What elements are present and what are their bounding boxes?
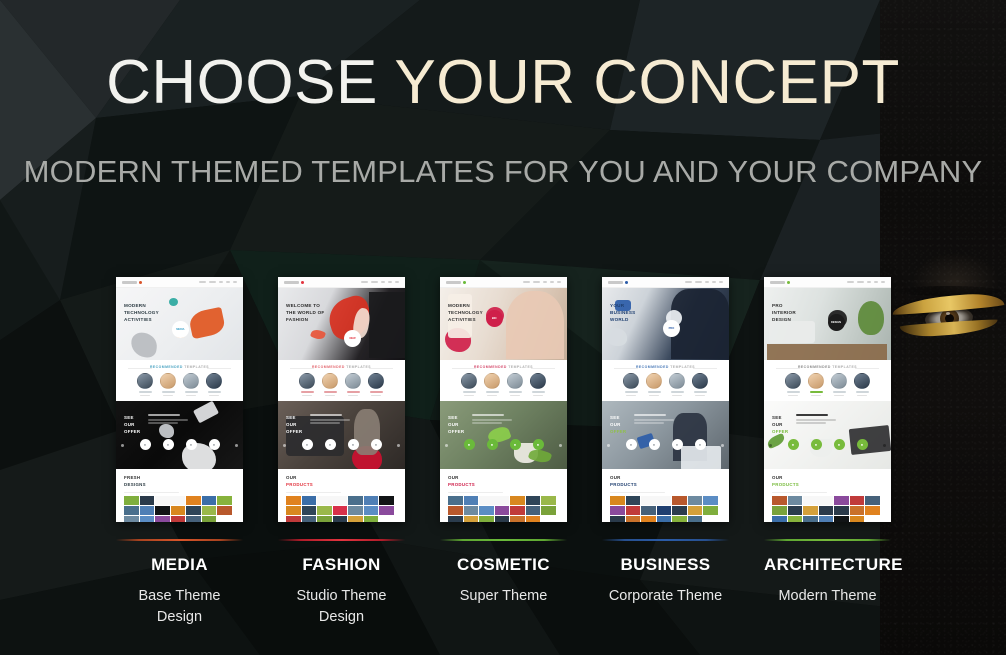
avatar-sublabel <box>302 395 312 397</box>
theme-subtitle-line: Base Theme <box>116 586 243 607</box>
product-tile[interactable] <box>202 506 217 515</box>
product-tile[interactable] <box>302 516 317 522</box>
hero-heading-line: ACTIVITIES <box>448 316 483 323</box>
product-tile[interactable] <box>526 496 541 505</box>
theme-card-media[interactable]: MODERNTECHNOLOGYACTIVITIESMEDIARECOMMEND… <box>116 277 243 643</box>
theme-card-business[interactable]: YOURBUSINESSWORLDPRORECOMMENDED TEMPLATE… <box>602 277 729 643</box>
preview-avatar-item[interactable] <box>137 373 153 396</box>
product-tile[interactable] <box>348 506 363 515</box>
preview-offer-icon-row: ●●●● <box>602 439 729 450</box>
theme-preview-image[interactable]: MODERNTECHNOLOGYACTIVITIESMEDIARECOMMEND… <box>116 277 243 522</box>
product-tile[interactable] <box>510 506 525 515</box>
preview-products-heading: OURPRODUCTS <box>772 475 883 489</box>
preview-offer-section: SEEOUROFFER●●●● <box>602 401 729 469</box>
avatar <box>368 373 384 389</box>
product-tile[interactable] <box>865 506 880 515</box>
offer-circle-icon[interactable]: ● <box>672 439 683 450</box>
rec-title-light: TEMPLATES <box>183 365 209 369</box>
avatar-sublabel <box>487 395 497 397</box>
products-divider <box>124 492 179 493</box>
offer-circle-icon[interactable]: ● <box>209 439 220 450</box>
products-heading-line: DESIGNS <box>124 482 235 489</box>
hero-heading-line: TECHNOLOGY <box>124 309 159 316</box>
product-tile[interactable] <box>348 496 363 505</box>
product-tile[interactable] <box>772 506 787 515</box>
avatar-label <box>532 391 545 393</box>
product-tile[interactable] <box>834 506 849 515</box>
preview-offer-section: SEEOUROFFER●●●● <box>440 401 567 469</box>
offer-circle-icon[interactable]: ● <box>163 439 174 450</box>
hero-heading-line: TECHNOLOGY <box>448 309 483 316</box>
page-subtitle: MODERN THEMED TEMPLATES FOR YOU AND YOUR… <box>0 156 1006 187</box>
avatar <box>785 373 801 389</box>
product-tile[interactable] <box>803 516 818 522</box>
rec-divider-right <box>693 368 717 369</box>
preview-logo <box>122 281 137 284</box>
avatar-label <box>162 391 175 393</box>
theme-subtitle-label: Super Theme <box>440 586 567 607</box>
product-tile[interactable] <box>688 506 703 515</box>
hero-heading-line: YOUR <box>610 302 636 309</box>
product-tile[interactable] <box>364 516 379 522</box>
preview-avatar-item[interactable] <box>206 373 222 396</box>
avatar <box>623 373 639 389</box>
offer-heading-line: OUR <box>124 421 140 428</box>
product-tile[interactable] <box>217 506 232 515</box>
rec-divider-left <box>614 368 638 369</box>
preview-logo-dot <box>139 281 142 284</box>
product-tile[interactable] <box>788 496 803 505</box>
rec-divider-right <box>207 368 231 369</box>
rec-title-strong: RECOMMENDED <box>312 365 345 369</box>
product-tile[interactable] <box>865 496 880 505</box>
theme-subtitle-label: Studio ThemeDesign <box>278 586 405 628</box>
product-tile[interactable] <box>140 506 155 515</box>
product-tile[interactable] <box>124 506 139 515</box>
product-tile[interactable] <box>495 516 510 522</box>
offer-circle-icon[interactable]: ● <box>811 439 822 450</box>
preview-avatar-item[interactable] <box>160 373 176 396</box>
avatar <box>322 373 338 389</box>
product-tile[interactable] <box>657 516 672 522</box>
product-tile[interactable] <box>364 506 379 515</box>
offer-circle-icon[interactable]: ● <box>371 439 382 450</box>
product-tile[interactable] <box>155 516 170 522</box>
hero-art-shape <box>769 321 815 343</box>
products-heading-line: PRODUCTS <box>286 482 397 489</box>
products-heading-line: OUR <box>286 475 397 482</box>
preview-avatar-item[interactable] <box>692 373 708 396</box>
preview-avatar-item[interactable] <box>831 373 847 396</box>
product-tile[interactable] <box>819 506 834 515</box>
product-tile[interactable] <box>541 496 556 505</box>
product-tile[interactable] <box>626 506 641 515</box>
offer-heading-line: OUR <box>448 421 464 428</box>
preview-avatar-item[interactable] <box>808 373 824 396</box>
product-tile[interactable] <box>302 496 317 505</box>
preview-avatar-item[interactable] <box>345 373 361 396</box>
theme-card-architecture[interactable]: PROINTERIORDESIGNDESIGNRECOMMENDED TEMPL… <box>764 277 891 643</box>
offer-circle-icon[interactable]: ● <box>325 439 336 450</box>
preview-recommended-section: RECOMMENDED TEMPLATES <box>602 360 729 401</box>
preview-offer-icon-row: ●●●● <box>440 439 567 450</box>
avatar-label <box>856 391 869 393</box>
offer-heading-line: OFFER <box>772 428 788 435</box>
preview-avatar-item[interactable] <box>669 373 685 396</box>
preview-offer-heading: SEEOUROFFER <box>124 414 140 435</box>
title-part-2: YOUR CONCEPT <box>394 48 899 117</box>
product-tile[interactable] <box>834 496 849 505</box>
offer-circle-icon[interactable]: ● <box>788 439 799 450</box>
product-tile[interactable] <box>202 516 217 522</box>
product-tile[interactable] <box>140 496 155 505</box>
rec-title-strong: RECOMMENDED <box>636 365 669 369</box>
preview-avatar-row <box>116 373 243 396</box>
product-tile[interactable] <box>850 496 865 505</box>
theme-preview-image[interactable]: MODERNTECHNOLOGYACTIVITIESBIORECOMMENDED… <box>440 277 567 522</box>
product-tile[interactable] <box>610 506 625 515</box>
product-tile[interactable] <box>448 506 463 515</box>
preview-offer-description <box>472 414 514 424</box>
hero-art-shape <box>169 298 178 306</box>
theme-card-cosmetic[interactable]: MODERNTECHNOLOGYACTIVITIESBIORECOMMENDED… <box>440 277 567 643</box>
theme-name-label: MEDIA <box>116 555 243 575</box>
theme-accent-rule <box>116 539 243 541</box>
product-tile[interactable] <box>186 516 201 522</box>
theme-subtitle-label: Modern Theme <box>764 586 891 607</box>
preview-products-section: OURPRODUCTS <box>764 469 891 522</box>
avatar-label <box>347 391 360 393</box>
product-tile[interactable] <box>834 516 849 522</box>
preview-logo-dot <box>301 281 304 284</box>
product-tile[interactable] <box>672 506 687 515</box>
product-tile[interactable] <box>186 496 201 505</box>
rec-title-light: TEMPLATES <box>669 365 695 369</box>
preview-offer-description <box>796 414 838 424</box>
preview-nav-menu <box>199 281 237 283</box>
preview-navbar <box>440 277 567 288</box>
product-tile[interactable] <box>541 506 556 515</box>
hero-art-shape <box>187 306 226 339</box>
preview-avatar-item[interactable] <box>299 373 315 396</box>
avatar-label <box>139 391 152 393</box>
hero-heading-line: BUSINESS <box>610 309 636 316</box>
product-tile[interactable] <box>626 496 641 505</box>
avatar-sublabel <box>371 395 381 397</box>
product-tile[interactable] <box>479 496 509 505</box>
product-tile[interactable] <box>464 496 479 505</box>
product-tile[interactable] <box>510 496 525 505</box>
preview-products-grid <box>286 496 394 522</box>
offer-circle-icon[interactable]: ● <box>348 439 359 450</box>
avatar <box>461 373 477 389</box>
theme-subtitle-line: Modern Theme <box>764 586 891 607</box>
product-tile[interactable] <box>850 506 865 515</box>
preview-products-heading: OURPRODUCTS <box>286 475 397 489</box>
products-divider <box>286 492 341 493</box>
preview-avatar-item[interactable] <box>183 373 199 396</box>
product-tile[interactable] <box>688 496 703 505</box>
avatar <box>183 373 199 389</box>
products-heading-line: OUR <box>448 475 559 482</box>
preview-avatar-item[interactable] <box>623 373 639 396</box>
preview-offer-heading: SEEOUROFFER <box>448 414 464 435</box>
offer-circle-icon[interactable]: ● <box>695 439 706 450</box>
avatar-sublabel <box>695 395 705 397</box>
product-tile[interactable] <box>772 516 787 522</box>
product-tile[interactable] <box>379 506 394 515</box>
offer-desc-title <box>634 414 666 416</box>
preview-avatar-row <box>764 373 891 396</box>
avatar-label <box>833 391 846 393</box>
preview-offer-description <box>310 414 352 424</box>
offer-heading-line: OUR <box>610 421 626 428</box>
product-tile[interactable] <box>379 496 394 505</box>
avatar <box>484 373 500 389</box>
products-heading-line: OUR <box>772 475 883 482</box>
products-divider <box>772 492 827 493</box>
theme-preview-image[interactable]: YOURBUSINESSWORLDPRORECOMMENDED TEMPLATE… <box>602 277 729 522</box>
offer-circle-icon[interactable]: ● <box>857 439 868 450</box>
products-heading-line: FRESH <box>124 475 235 482</box>
product-tile[interactable] <box>526 516 541 522</box>
product-tile[interactable] <box>510 516 525 522</box>
product-tile[interactable] <box>286 516 301 522</box>
rec-divider-left <box>128 368 152 369</box>
avatar-sublabel <box>788 395 798 397</box>
preview-offer-section: SEEOUROFFER●●●● <box>116 401 243 469</box>
hero-heading-line: MODERN <box>448 302 483 309</box>
theme-preview-image[interactable]: PROINTERIORDESIGNDESIGNRECOMMENDED TEMPL… <box>764 277 891 522</box>
offer-desc-title <box>310 414 342 416</box>
products-divider <box>448 492 503 493</box>
theme-card-fashion[interactable]: WELCOME TOTHE WORLD OFFASHIONNEWRECOMMEN… <box>278 277 405 643</box>
gold-eye-icon <box>892 288 1004 346</box>
offer-desc-line <box>148 419 188 421</box>
preview-hero: WELCOME TOTHE WORLD OFFASHIONNEW <box>278 288 405 360</box>
hero-heading-line: THE WORLD OF <box>286 309 324 316</box>
product-tile[interactable] <box>464 506 479 515</box>
product-tile[interactable] <box>140 516 155 522</box>
product-tile[interactable] <box>155 496 185 505</box>
preview-hero-badge: MEDIA <box>172 321 189 338</box>
hero-heading-line: INTERIOR <box>772 309 796 316</box>
product-tile[interactable] <box>171 506 186 515</box>
products-heading-line: PRODUCTS <box>448 482 559 489</box>
avatar-label <box>301 391 314 393</box>
avatar <box>831 373 847 389</box>
preview-products-section: FRESHDESIGNS <box>116 469 243 522</box>
preview-products-grid <box>448 496 556 522</box>
product-tile[interactable] <box>286 496 301 505</box>
preview-offer-heading: SEEOUROFFER <box>772 414 788 435</box>
preview-avatar-item[interactable] <box>484 373 500 396</box>
offer-circle-icon[interactable]: ● <box>510 439 521 450</box>
product-tile[interactable] <box>819 516 834 522</box>
offer-circle-icon[interactable]: ● <box>487 439 498 450</box>
avatar-label <box>810 391 823 393</box>
preview-avatar-item[interactable] <box>646 373 662 396</box>
product-tile[interactable] <box>317 516 332 522</box>
preview-hero-artwork <box>278 288 405 360</box>
product-tile[interactable] <box>364 496 379 505</box>
offer-desc-line <box>796 422 826 424</box>
product-tile[interactable] <box>803 496 833 505</box>
hero-art-shape <box>506 291 564 359</box>
product-tile[interactable] <box>317 496 347 505</box>
preview-avatar-item[interactable] <box>461 373 477 396</box>
avatar-label <box>486 391 499 393</box>
offer-circle-icon[interactable]: ● <box>649 439 660 450</box>
product-tile[interactable] <box>626 516 641 522</box>
product-tile[interactable] <box>171 516 186 522</box>
product-tile[interactable] <box>479 516 494 522</box>
avatar <box>507 373 523 389</box>
product-tile[interactable] <box>788 516 803 522</box>
avatar-label <box>671 391 684 393</box>
product-tile[interactable] <box>286 506 301 515</box>
offer-desc-line <box>148 422 178 424</box>
hero-heading-line: PRO <box>772 302 796 309</box>
avatar-label <box>185 391 198 393</box>
preview-avatar-item[interactable] <box>785 373 801 396</box>
product-tile[interactable] <box>688 516 703 522</box>
product-tile[interactable] <box>124 496 139 505</box>
preview-navbar <box>116 277 243 288</box>
theme-name-label: FASHION <box>278 555 405 575</box>
theme-name-label: COSMETIC <box>440 555 567 575</box>
offer-heading-line: OFFER <box>286 428 302 435</box>
product-tile[interactable] <box>464 516 479 522</box>
offer-circle-icon[interactable]: ● <box>302 439 313 450</box>
offer-circle-icon[interactable]: ● <box>186 439 197 450</box>
preview-hero-badge: PRO <box>663 320 680 337</box>
offer-circle-icon[interactable]: ● <box>533 439 544 450</box>
hero-heading-line: WORLD <box>610 316 636 323</box>
preview-hero-heading: MODERNTECHNOLOGYACTIVITIES <box>124 302 159 323</box>
offer-circle-icon[interactable]: ● <box>140 439 151 450</box>
product-tile[interactable] <box>657 506 672 515</box>
theme-subtitle-line: Super Theme <box>440 586 567 607</box>
rec-divider-right <box>369 368 393 369</box>
avatar-sublabel <box>811 395 821 397</box>
offer-desc-line <box>634 419 674 421</box>
product-tile[interactable] <box>479 506 494 515</box>
product-tile[interactable] <box>610 496 625 505</box>
preview-avatar-item[interactable] <box>368 373 384 396</box>
product-tile[interactable] <box>703 496 718 505</box>
product-tile[interactable] <box>186 506 201 515</box>
product-tile[interactable] <box>672 496 687 505</box>
avatar-label <box>787 391 800 393</box>
offer-desc-line <box>472 419 512 421</box>
preview-products-section: OURPRODUCTS <box>440 469 567 522</box>
preview-avatar-item[interactable] <box>322 373 338 396</box>
product-tile[interactable] <box>217 496 232 505</box>
preview-hero-badge: BIO <box>486 310 503 327</box>
product-tile[interactable] <box>348 516 363 522</box>
rec-divider-left <box>290 368 314 369</box>
preview-offer-icon-row: ●●●● <box>116 439 243 450</box>
product-tile[interactable] <box>202 496 217 505</box>
page-title: CHOOSE YOUR CONCEPT <box>0 52 1006 114</box>
preview-offer-heading: SEEOUROFFER <box>610 414 626 435</box>
offer-heading-line: OFFER <box>448 428 464 435</box>
rec-divider-right <box>531 368 555 369</box>
preview-products-heading: OURPRODUCTS <box>610 475 721 489</box>
product-tile[interactable] <box>672 516 687 522</box>
product-tile[interactable] <box>641 516 656 522</box>
product-tile[interactable] <box>155 506 170 515</box>
theme-preview-image[interactable]: WELCOME TOTHE WORLD OFFASHIONNEWRECOMMEN… <box>278 277 405 522</box>
rec-title-strong: RECOMMENDED <box>150 365 183 369</box>
preview-hero: MODERNTECHNOLOGYACTIVITIESBIO <box>440 288 567 360</box>
product-tile[interactable] <box>317 506 332 515</box>
avatar-sublabel <box>348 395 358 397</box>
preview-products-section: OURPRODUCTS <box>278 469 405 522</box>
avatar <box>808 373 824 389</box>
product-tile[interactable] <box>333 506 348 515</box>
product-tile[interactable] <box>641 506 656 515</box>
preview-recommended-section: RECOMMENDED TEMPLATES <box>764 360 891 401</box>
theme-subtitle-line: Corporate Theme <box>602 586 729 607</box>
products-heading-line: PRODUCTS <box>772 482 883 489</box>
product-tile[interactable] <box>302 506 317 515</box>
avatar-sublabel <box>140 395 150 397</box>
offer-circle-icon[interactable]: ● <box>834 439 845 450</box>
preview-navbar <box>764 277 891 288</box>
offer-art-shape <box>193 401 219 423</box>
title-part-1: CHOOSE <box>106 48 394 117</box>
product-tile[interactable] <box>641 496 671 505</box>
product-tile[interactable] <box>703 506 718 515</box>
product-tile[interactable] <box>526 506 541 515</box>
product-tile[interactable] <box>610 516 625 522</box>
product-tile[interactable] <box>772 496 787 505</box>
product-tile[interactable] <box>803 506 818 515</box>
avatar <box>160 373 176 389</box>
offer-heading-line: OFFER <box>124 428 140 435</box>
product-tile[interactable] <box>448 496 463 505</box>
preview-hero-heading: MODERNTECHNOLOGYACTIVITIES <box>448 302 483 323</box>
avatar <box>646 373 662 389</box>
preview-products-section: OURPRODUCTS <box>602 469 729 522</box>
product-tile[interactable] <box>788 506 803 515</box>
product-tile[interactable] <box>448 516 463 522</box>
offer-circle-icon[interactable]: ● <box>464 439 475 450</box>
offer-heading-line: OUR <box>772 421 788 428</box>
preview-products-grid <box>124 496 232 522</box>
offer-circle-icon[interactable]: ● <box>626 439 637 450</box>
avatar-label <box>625 391 638 393</box>
offer-desc-line <box>310 419 350 421</box>
rec-divider-left <box>452 368 476 369</box>
product-tile[interactable] <box>124 516 139 522</box>
product-tile[interactable] <box>333 516 348 522</box>
avatar-label <box>648 391 661 393</box>
preview-avatar-item[interactable] <box>854 373 870 396</box>
preview-avatar-item[interactable] <box>530 373 546 396</box>
preview-products-heading: FRESHDESIGNS <box>124 475 235 489</box>
products-heading-line: PRODUCTS <box>610 482 721 489</box>
preview-hero: YOURBUSINESSWORLDPRO <box>602 288 729 360</box>
product-tile[interactable] <box>850 516 865 522</box>
theme-accent-rule <box>440 539 567 541</box>
avatar-label <box>370 391 383 393</box>
product-tile[interactable] <box>495 506 510 515</box>
preview-avatar-item[interactable] <box>507 373 523 396</box>
avatar-sublabel <box>325 395 335 397</box>
